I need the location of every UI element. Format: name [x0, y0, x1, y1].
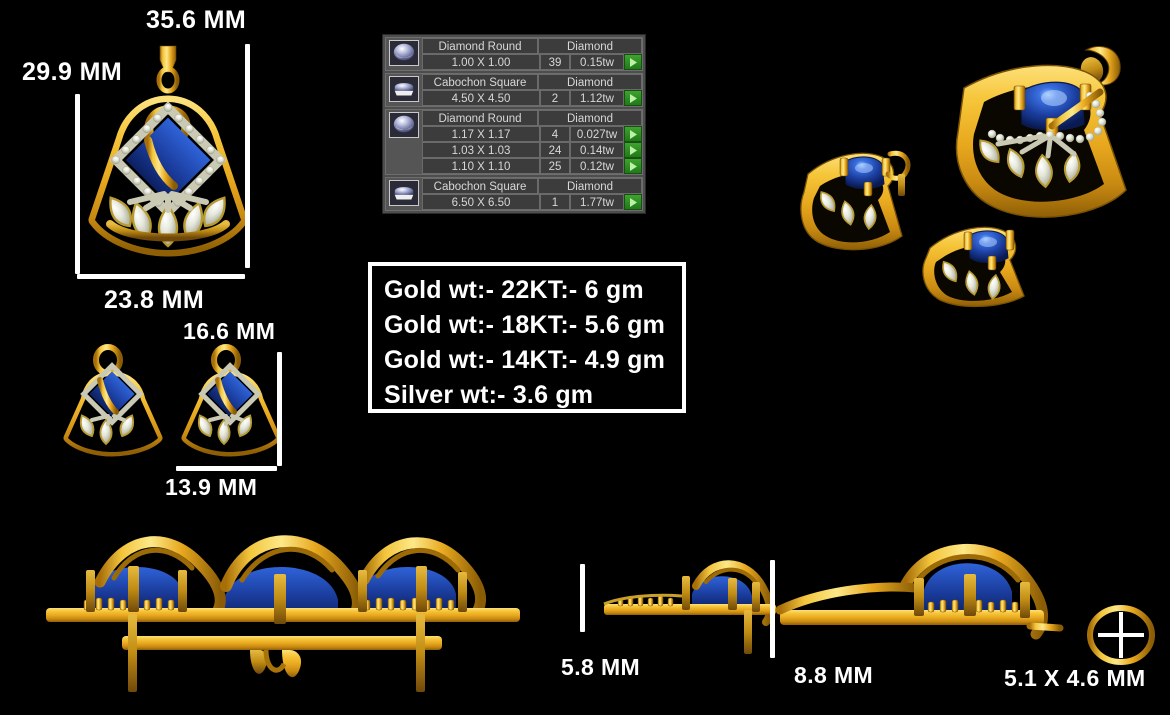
round-cabochon-icon — [389, 112, 419, 138]
play-arrow-icon[interactable] — [624, 142, 642, 158]
stone-qty-cell: 25 — [540, 158, 570, 174]
table-header-row: Diamond Round Diamond — [422, 110, 642, 126]
play-arrow-icon[interactable] — [624, 54, 642, 70]
pendant-width-rule — [77, 274, 245, 279]
three-d-render-cluster — [790, 28, 1170, 300]
weight-line: Gold wt:- 22KT:- 6 gm — [384, 273, 670, 308]
gem-thumbnail-cell[interactable] — [386, 38, 422, 70]
earring-depth-rule — [580, 564, 585, 632]
table-row[interactable]: 1.00 X 1.00 39 0.15tw — [422, 54, 642, 70]
stone-qty-cell: 24 — [540, 142, 570, 158]
earring-left-front-view — [62, 342, 172, 454]
earring-right-front-view — [180, 342, 290, 454]
stone-qty-cell: 39 — [540, 54, 570, 70]
pendant-body-height-rule — [75, 94, 80, 274]
weight-line: Gold wt:- 14KT:- 4.9 gm — [384, 343, 670, 378]
stone-size-cell: 1.17 X 1.17 — [422, 126, 540, 142]
stone-size-cell: 1.03 X 1.03 — [422, 142, 540, 158]
earring-height-label: 16.6 MM — [183, 318, 275, 345]
table-header-row: Cabochon Square Diamond — [422, 74, 642, 90]
earring-side-profile-view — [596, 556, 786, 656]
stone-type-header: Diamond — [538, 178, 642, 194]
pendant-body-height-label: 29.9 MM — [22, 58, 122, 87]
pendant-width-label: 23.8 MM — [104, 286, 204, 315]
stone-type-header: Diamond — [538, 74, 642, 90]
pendant-depth-label: 8.8 MM — [794, 662, 873, 689]
earring-width-label: 13.9 MM — [165, 474, 257, 501]
round-cabochon-icon — [389, 40, 419, 66]
pendant-depth-rule — [770, 560, 775, 658]
stone-size-cell: 4.50 X 4.50 — [422, 90, 540, 106]
stone-group: Diamond Round Diamond 1.00 X 1.00 39 0.1… — [385, 37, 643, 71]
stone-shape-header: Cabochon Square — [422, 74, 538, 90]
stone-type-header: Diamond — [538, 110, 642, 126]
set-side-profile-view — [28, 524, 538, 694]
play-arrow-icon[interactable] — [624, 194, 642, 210]
gem-thumbnail-cell[interactable] — [386, 74, 422, 106]
pendant-height-label: 35.6 MM — [146, 6, 246, 35]
stone-size-cell: 1.10 X 1.10 — [422, 158, 540, 174]
stone-size-cell: 6.50 X 6.50 — [422, 194, 540, 210]
stone-size-cell: 1.00 X 1.00 — [422, 54, 540, 70]
stone-qty-cell: 2 — [540, 90, 570, 106]
weight-line: Gold wt:- 18KT:- 5.6 gm — [384, 308, 670, 343]
stone-shape-header: Diamond Round — [422, 110, 538, 126]
play-arrow-icon[interactable] — [624, 158, 642, 174]
table-row[interactable]: 1.17 X 1.17 4 0.027tw — [422, 126, 642, 142]
table-row[interactable]: 4.50 X 4.50 2 1.12tw — [422, 90, 642, 106]
table-header-row: Cabochon Square Diamond — [422, 178, 642, 194]
stone-qty-cell: 4 — [540, 126, 570, 142]
stone-group: Diamond Round Diamond 1.17 X 1.17 4 0.02… — [385, 109, 643, 175]
earring-width-rule — [176, 466, 277, 471]
stone-group: Cabochon Square Diamond 6.50 X 6.50 1 1.… — [385, 177, 643, 211]
stone-weight-cell: 0.14tw — [570, 142, 624, 158]
stone-qty-cell: 1 — [540, 194, 570, 210]
pendant-height-rule — [245, 44, 250, 268]
table-row[interactable]: 6.50 X 6.50 1 1.77tw — [422, 194, 642, 210]
weight-line: Silver wt:- 3.6 gm — [384, 378, 670, 413]
square-cabochon-icon — [389, 76, 419, 102]
stone-weight-cell: 0.027tw — [570, 126, 624, 142]
stone-type-header: Diamond — [538, 38, 642, 54]
metal-weight-box: Gold wt:- 22KT:- 6 gm Gold wt:- 18KT:- 5… — [368, 262, 686, 413]
pendant-side-profile-view — [778, 548, 1078, 658]
stone-shape-header: Diamond Round — [422, 38, 538, 54]
table-header-row: Diamond Round Diamond — [422, 38, 642, 54]
stone-group: Cabochon Square Diamond 4.50 X 4.50 2 1.… — [385, 73, 643, 107]
stone-weight-cell: 1.77tw — [570, 194, 624, 210]
square-cabochon-icon — [389, 180, 419, 206]
table-row[interactable]: 1.10 X 1.10 25 0.12tw — [422, 158, 642, 174]
earring-depth-label: 5.8 MM — [561, 654, 640, 681]
stone-weight-cell: 0.15tw — [570, 54, 624, 70]
earring-height-rule — [277, 352, 282, 466]
play-arrow-icon[interactable] — [624, 126, 642, 142]
gem-thumbnail-cell[interactable] — [386, 178, 422, 210]
stone-weight-cell: 1.12tw — [570, 90, 624, 106]
table-row[interactable]: 1.03 X 1.03 24 0.14tw — [422, 142, 642, 158]
stone-weight-cell: 0.12tw — [570, 158, 624, 174]
bail-crosshair-detail — [1086, 604, 1156, 666]
gem-thumbnail-cell[interactable] — [386, 110, 422, 174]
stone-shape-header: Cabochon Square — [422, 178, 538, 194]
stone-spec-table[interactable]: Diamond Round Diamond 1.00 X 1.00 39 0.1… — [382, 34, 646, 214]
bail-size-label: 5.1 X 4.6 MM — [1004, 665, 1146, 692]
play-arrow-icon[interactable] — [624, 90, 642, 106]
